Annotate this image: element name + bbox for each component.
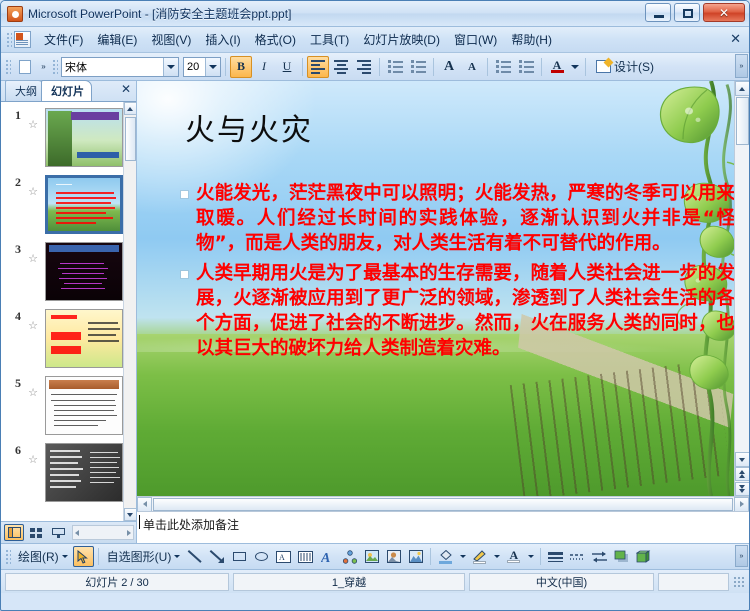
- font-color-button[interactable]: A: [546, 56, 568, 78]
- image-button[interactable]: [405, 546, 426, 567]
- draw-menu-button[interactable]: 绘图(R): [14, 545, 72, 568]
- svg-text:A: A: [321, 551, 330, 564]
- draw-menu-label: 绘图(R): [18, 548, 59, 565]
- white-square-bullet-icon: [181, 271, 188, 278]
- menu-item-insert[interactable]: 插入(I): [198, 28, 247, 51]
- main-area: 大纲 幻灯片 ✕ 1 ☆ 2 ☆: [1, 81, 749, 543]
- text-box-icon: A: [276, 551, 291, 563]
- scrollbar-thumb-horizontal[interactable]: [153, 498, 733, 511]
- increase-font-size-button[interactable]: A: [438, 56, 460, 78]
- paragraph-text: 火能发光，茫茫黑夜中可以照明；火能发热，严寒的冬季可以用来取暖。人们经过长时间的…: [196, 181, 735, 256]
- fill-color-chevron-down-icon[interactable]: [457, 546, 468, 567]
- drawing-toolbar-overflow-button[interactable]: »: [735, 545, 748, 567]
- align-right-button[interactable]: [353, 56, 375, 78]
- menu-grip-handle[interactable]: [5, 31, 12, 49]
- slide-horizontal-scrollbar[interactable]: [137, 496, 749, 511]
- align-center-icon: [334, 60, 348, 74]
- slide-title[interactable]: 火与火灾: [185, 105, 313, 149]
- slide-number: 1: [3, 108, 21, 123]
- list-item[interactable]: 5 ☆: [3, 376, 121, 435]
- list-item[interactable]: 3 ☆: [3, 242, 121, 301]
- dash-style-button[interactable]: [567, 546, 588, 567]
- animation-star-icon: ☆: [28, 253, 38, 265]
- line-style-icon: [548, 552, 563, 562]
- scroll-left-button[interactable]: [137, 497, 152, 512]
- select-arrow-icon: [77, 550, 89, 564]
- increase-indent-button[interactable]: [515, 56, 537, 78]
- line-color-button[interactable]: [469, 546, 490, 567]
- drawing-font-color-chevron-down-icon[interactable]: [525, 546, 536, 567]
- chevron-down-icon: [739, 458, 745, 462]
- bulleted-list-button[interactable]: [407, 56, 429, 78]
- arrow-icon: [211, 550, 225, 564]
- svg-text:A: A: [279, 553, 285, 562]
- toolbar-options-icon-1[interactable]: »: [37, 56, 50, 78]
- select-objects-button[interactable]: [73, 546, 94, 567]
- menu-item-tools[interactable]: 工具(T): [303, 28, 356, 51]
- numbered-list-button[interactable]: [384, 56, 406, 78]
- vertical-text-box-button[interactable]: [295, 546, 316, 567]
- pane-tabs: 大纲 幻灯片 ✕: [1, 81, 136, 101]
- decrease-font-size-icon: A: [468, 61, 476, 73]
- slide-meta: ☆: [24, 376, 42, 399]
- menu-item-help[interactable]: 帮助(H): [504, 28, 559, 51]
- slide-editing-area: 火与火灾 火能发光，茫茫黑夜中可以照明；火能发热，严寒的冬季可以用来取暖。人们经…: [137, 81, 749, 543]
- italic-icon: I: [262, 59, 266, 74]
- chevron-down-icon: [62, 555, 68, 558]
- toolbar-grip-handle-1[interactable]: [4, 58, 11, 76]
- font-name-chevron-down-icon[interactable]: [163, 58, 178, 76]
- scrollbar-thumb[interactable]: [125, 117, 136, 161]
- increase-font-size-icon: A: [444, 59, 454, 75]
- slide-show-view-button[interactable]: [48, 524, 68, 541]
- chevron-left-icon: [75, 530, 79, 536]
- menu-item-edit[interactable]: 编辑(E): [90, 28, 144, 51]
- list-item[interactable]: 4 ☆: [3, 309, 121, 368]
- status-extra: [658, 573, 729, 591]
- italic-button[interactable]: I: [253, 56, 275, 78]
- tab-outline[interactable]: 大纲: [5, 80, 45, 101]
- resize-grip-icon[interactable]: [733, 576, 745, 588]
- tab-slides[interactable]: 幻灯片: [41, 80, 92, 101]
- oval-tool-button[interactable]: [251, 546, 272, 567]
- slide-number: 3: [3, 242, 21, 257]
- double-chevron-down-icon: [739, 485, 745, 493]
- clip-art-button[interactable]: [361, 546, 382, 567]
- paragraph-text: 人类早期用火是为了最基本的生存需要，随着人类社会进一步的发展，火逐渐被应用到了更…: [196, 261, 735, 361]
- window-controls: ✕: [645, 3, 745, 22]
- toolbar-overflow-icon: »: [740, 63, 744, 70]
- powerpoint-window: Microsoft PowerPoint - [消防安全主题班会ppt.ppt]…: [0, 0, 750, 611]
- autoshapes-label: 自选图形(U): [107, 548, 172, 565]
- underline-button[interactable]: U: [276, 56, 298, 78]
- scroll-right-button[interactable]: [734, 497, 749, 512]
- formatting-toolbar: » 宋体 20 B I U: [1, 53, 749, 81]
- drawing-toolbar-grip-handle[interactable]: [4, 548, 11, 566]
- slide-meta: ☆: [24, 309, 42, 332]
- font-color-letter-2: A: [510, 550, 519, 560]
- font-color-icon: A: [551, 60, 564, 73]
- line-tool-button[interactable]: [185, 546, 206, 567]
- title-bar: Microsoft PowerPoint - [消防安全主题班会ppt.ppt]…: [1, 1, 749, 27]
- bold-icon: B: [237, 59, 245, 74]
- animation-star-icon: ☆: [28, 454, 38, 466]
- normal-view-icon: [8, 527, 21, 538]
- chevron-right-icon: [127, 530, 131, 536]
- wordart-icon: A: [321, 550, 335, 564]
- chevron-down-icon: [127, 513, 133, 517]
- line-style-button[interactable]: [545, 546, 566, 567]
- slide-thumbnail[interactable]: [45, 376, 123, 435]
- scroll-up-button[interactable]: [124, 102, 137, 115]
- font-name-combo[interactable]: 宋体: [61, 57, 179, 77]
- scroll-down-button[interactable]: [124, 508, 137, 521]
- list-item[interactable]: 6 ☆: [3, 443, 121, 502]
- slide-meta: ☆: [24, 242, 42, 265]
- align-center-button[interactable]: [330, 56, 352, 78]
- line-color-icon: [473, 550, 487, 564]
- double-chevron-up-icon: [739, 470, 745, 478]
- bulleted-list-icon: [411, 61, 426, 73]
- chevron-down-icon: [174, 555, 180, 558]
- diagram-button[interactable]: [339, 546, 360, 567]
- menu-item-format[interactable]: 格式(O): [248, 28, 303, 51]
- align-right-icon: [357, 60, 371, 74]
- powerpoint-icon: [7, 6, 23, 22]
- slides-pane: 大纲 幻灯片 ✕ 1 ☆ 2 ☆: [1, 81, 137, 543]
- slide-number: 5: [3, 376, 21, 391]
- notes-placeholder: 单击此处添加备注: [143, 518, 239, 532]
- insert-picture-button[interactable]: [383, 546, 404, 567]
- 3d-style-icon: [636, 550, 651, 563]
- numbered-list-icon: [388, 61, 403, 73]
- image-icon: [409, 550, 423, 563]
- slide-number: 4: [3, 309, 21, 324]
- slide-vertical-scrollbar[interactable]: [734, 81, 749, 496]
- list-item[interactable]: 1 ☆: [3, 108, 121, 167]
- align-left-icon: [311, 60, 325, 74]
- menu-item-slideshow[interactable]: 幻灯片放映(D): [356, 28, 447, 51]
- close-button[interactable]: ✕: [703, 3, 745, 22]
- menu-bar: 文件(F) 编辑(E) 视图(V) 插入(I) 格式(O) 工具(T) 幻灯片放…: [1, 27, 749, 53]
- chevron-up-icon: [127, 107, 133, 111]
- window-title: Microsoft PowerPoint - [消防安全主题班会ppt.ppt]: [28, 5, 291, 22]
- decrease-indent-button[interactable]: [492, 56, 514, 78]
- rectangle-icon: [233, 552, 246, 561]
- font-color-icon: A: [507, 550, 520, 563]
- slide-thumbnail[interactable]: [45, 242, 123, 301]
- list-item[interactable]: 2 ☆: [3, 175, 121, 234]
- underline-icon: U: [283, 59, 292, 74]
- slide-thumbnail[interactable]: [45, 108, 123, 167]
- wordart-button[interactable]: A: [317, 546, 338, 567]
- line-icon: [189, 550, 203, 564]
- drawing-overflow-icon: »: [740, 553, 744, 560]
- fill-color-button[interactable]: [435, 546, 456, 567]
- normal-view-button[interactable]: [4, 524, 24, 541]
- slide-number: 6: [3, 443, 21, 458]
- oval-icon: [255, 552, 268, 561]
- restore-button[interactable]: [674, 3, 700, 22]
- slide-body-placeholder[interactable]: 火能发光，茫茫黑夜中可以照明；火能发热，严寒的冬季可以用来取暖。人们经过长时间的…: [181, 181, 735, 366]
- status-language[interactable]: 中文(中国): [469, 573, 654, 591]
- text-box-button[interactable]: A: [273, 546, 294, 567]
- toolbar-grip-handle-2[interactable]: [51, 58, 58, 76]
- animation-star-icon: ☆: [28, 320, 38, 332]
- font-color-chevron-down-icon[interactable]: [569, 56, 581, 78]
- insert-picture-icon: [387, 550, 401, 563]
- slide-meta: ☆: [24, 175, 42, 198]
- design-label: 设计(S): [614, 58, 654, 75]
- thumbnail-list: 1 ☆ 2 ☆: [1, 102, 123, 521]
- slide-meta: ☆: [24, 108, 42, 131]
- decrease-font-size-button[interactable]: A: [461, 56, 483, 78]
- drawing-font-color-button[interactable]: A: [503, 546, 524, 567]
- next-slide-button[interactable]: [735, 482, 750, 496]
- decrease-indent-icon: [496, 61, 511, 73]
- font-size-value: 20: [187, 61, 199, 73]
- fill-color-icon: [439, 550, 453, 564]
- font-size-chevron-down-icon[interactable]: [205, 58, 220, 76]
- animation-star-icon: ☆: [28, 186, 38, 198]
- design-button[interactable]: 设计(S): [590, 55, 660, 78]
- arrow-tool-button[interactable]: [207, 546, 228, 567]
- view-buttons-bar: [1, 521, 136, 543]
- status-slide-counter: 幻灯片 2 / 30: [5, 573, 229, 591]
- rectangle-tool-button[interactable]: [229, 546, 250, 567]
- diagram-icon: [343, 550, 357, 564]
- clip-art-icon: [365, 550, 379, 563]
- chevron-right-icon: [740, 501, 744, 507]
- status-bar: 幻灯片 2 / 30 1_穿越 中文(中国): [1, 569, 749, 593]
- white-square-bullet-icon: [181, 191, 188, 198]
- slide-canvas[interactable]: 火与火灾 火能发光，茫茫黑夜中可以照明；火能发热，严寒的冬季可以用来取暖。人们经…: [137, 81, 749, 496]
- previous-slide-button[interactable]: [735, 467, 750, 481]
- increase-indent-icon: [519, 61, 534, 73]
- slide-thumbnail[interactable]: [45, 443, 123, 502]
- font-name-value: 宋体: [65, 59, 87, 75]
- thumbnails-container: 1 ☆ 2 ☆: [1, 101, 136, 521]
- slide-thumbnail[interactable]: [45, 309, 123, 368]
- shadow-style-icon: [614, 550, 629, 563]
- menu-item-view[interactable]: 视图(V): [144, 28, 198, 51]
- drawing-toolbar: 绘图(R) 自选图形(U) A A: [1, 543, 749, 569]
- arrow-style-icon: [592, 551, 607, 563]
- align-left-button[interactable]: [307, 56, 329, 78]
- slide-sorter-view-button[interactable]: [26, 524, 46, 541]
- animation-star-icon: ☆: [28, 119, 38, 131]
- document-icon: [14, 31, 31, 48]
- animation-star-icon: ☆: [28, 387, 38, 399]
- bullet-paragraph[interactable]: 火能发光，茫茫黑夜中可以照明；火能发热，严寒的冬季可以用来取暖。人们经过长时间的…: [181, 181, 735, 256]
- line-color-chevron-down-icon[interactable]: [491, 546, 502, 567]
- vertical-text-box-icon: [298, 551, 313, 563]
- thumbnails-scrollbar[interactable]: [123, 102, 136, 521]
- close-document-icon[interactable]: ✕: [730, 32, 741, 46]
- slide-sorter-icon: [30, 528, 42, 538]
- 3d-style-button[interactable]: [633, 546, 654, 567]
- close-icon: ✕: [704, 4, 744, 21]
- dash-style-icon: [570, 552, 585, 562]
- menu-item-file[interactable]: 文件(F): [37, 28, 90, 51]
- slide-show-icon: [52, 528, 65, 538]
- shadow-style-button[interactable]: [611, 546, 632, 567]
- close-pane-icon[interactable]: ✕: [121, 84, 131, 95]
- toolbar-overflow-button[interactable]: »: [735, 54, 748, 78]
- chevron-up-icon: [739, 87, 745, 91]
- font-color-letter: A: [553, 60, 562, 70]
- notes-horizontal-scrollbar[interactable]: [72, 525, 134, 540]
- design-icon: [596, 60, 611, 73]
- new-document-icon[interactable]: [14, 56, 36, 78]
- autoshapes-menu-button[interactable]: 自选图形(U): [103, 545, 185, 568]
- previous-next-slide-buttons: [735, 467, 750, 496]
- scroll-up-button[interactable]: [735, 81, 750, 96]
- bullet-paragraph[interactable]: 人类早期用火是为了最基本的生存需要，随着人类社会进一步的发展，火逐渐被应用到了更…: [181, 261, 735, 361]
- notes-pane[interactable]: 单击此处添加备注: [137, 511, 749, 543]
- chevron-left-icon: [143, 501, 147, 507]
- status-design-template[interactable]: 1_穿越: [233, 573, 465, 591]
- slide-number: 2: [3, 175, 21, 190]
- scrollbar-thumb[interactable]: [736, 97, 749, 145]
- menu-item-window[interactable]: 窗口(W): [447, 28, 504, 51]
- minimize-button[interactable]: [645, 3, 671, 22]
- slide-meta: ☆: [24, 443, 42, 466]
- slide-thumbnail-selected[interactable]: [45, 175, 123, 234]
- font-size-combo[interactable]: 20: [183, 57, 221, 77]
- scroll-down-button[interactable]: [735, 452, 750, 467]
- arrow-style-button[interactable]: [589, 546, 610, 567]
- bold-button[interactable]: B: [230, 56, 252, 78]
